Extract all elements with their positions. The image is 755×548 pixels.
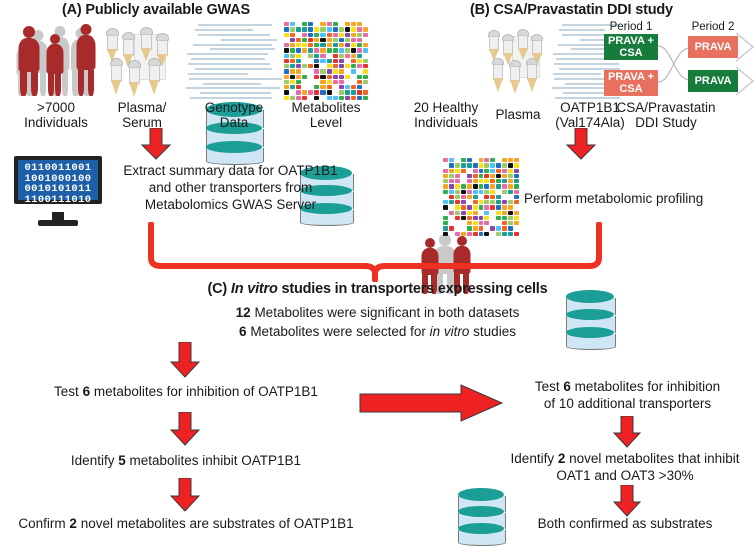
- panel-b-item-3-line2: DDI Study: [596, 115, 736, 130]
- panel-c-stat-line-1: 6 Metabolites were selected for in vitro…: [0, 322, 755, 341]
- stat-1-number: 6: [239, 324, 247, 339]
- right-step-1-post: novel metabolites that inhibit: [565, 451, 739, 466]
- extract-caption-line-1: and other transporters from: [108, 179, 353, 196]
- panel-a-item-2-line2: Data: [184, 115, 284, 130]
- left-step-2-pre: Confirm: [18, 516, 69, 531]
- panel-b-item-0-label: 20 Healthy Individuals: [404, 100, 488, 130]
- panel-a-item-2-label: Genotype Data: [184, 100, 284, 130]
- left-step-0-num: 6: [83, 384, 91, 399]
- crossover-box-p1-top: PRAVA + CSA: [604, 34, 658, 60]
- panel-a-item-2-line1: Genotype: [184, 100, 284, 115]
- panel-c-title-italic: In vitro: [231, 281, 278, 297]
- left-step-0: Test 6 metabolites for inhibition of OAT…: [0, 384, 372, 399]
- left-step-1-post: metabolites inhibit OATP1B1: [126, 453, 301, 468]
- panel-b-item-3-line1: CSA/Pravastatin: [596, 100, 736, 115]
- panel-a-item-0-line2: Individuals: [6, 115, 106, 130]
- panel-b-item-1-line1: Plasma: [484, 107, 552, 122]
- right-step-0-line1: Test 6 metabolites for inhibition: [500, 378, 755, 395]
- left-step-2: Confirm 2 novel metabolites are substrat…: [0, 516, 372, 531]
- sample-tubes-icon-b: [486, 26, 550, 96]
- panel-a-item-3-label: Metabolites Level: [278, 100, 374, 130]
- panel-a-item-3-line2: Level: [278, 115, 374, 130]
- stat-1-italic: in vitro: [430, 324, 470, 339]
- stat-1-text: Metabolites were selected for: [247, 324, 430, 339]
- panel-c-stat-line-0: 12 Metabolites were significant in both …: [0, 303, 755, 322]
- microarray-backdrop-a: [284, 22, 368, 100]
- extract-caption-line-0: Extract summary data for OATP1B1: [108, 162, 353, 179]
- arrow-down-a: [141, 128, 171, 160]
- right-step-1-line2: OAT1 and OAT3 >30%: [495, 467, 755, 484]
- panel-b-item-1-label: Plasma: [484, 107, 552, 122]
- panel-c-title: (C) In vitro studies in transporters exp…: [0, 281, 755, 297]
- people-crowd-icon: [14, 24, 102, 96]
- panel-a-item-3-line1: Metabolites: [278, 100, 374, 115]
- chevron-arrow-bottom: [736, 66, 755, 96]
- left-step-0-pre: Test: [54, 384, 83, 399]
- arrow-down-b: [566, 128, 596, 160]
- right-step-0-pre: Test: [535, 379, 564, 394]
- panel-a-item-0-label: >7000 Individuals: [6, 100, 106, 130]
- computer-monitor-icon: 0110011001 1001000100 0010101011 1100111…: [14, 156, 110, 228]
- left-step-2-post: novel metabolites are substrates of OATP…: [77, 516, 354, 531]
- right-step-0-num: 6: [563, 379, 571, 394]
- panel-a-item-1-label: Plasma/ Serum: [98, 100, 186, 130]
- panel-b-item-3-label: CSA/Pravastatin DDI Study: [596, 100, 736, 130]
- panel-c-title-prefix: (C): [208, 281, 231, 297]
- left-step-1-pre: Identify: [71, 453, 118, 468]
- panel-a-item-1-line1: Plasma/: [98, 100, 186, 115]
- sample-tubes-icon: [104, 24, 180, 98]
- crossover-box-p2-bottom: PRAVA: [688, 70, 738, 92]
- binary-row-0: 0110011001: [18, 163, 98, 174]
- monitor-screen: 0110011001 1001000100 0010101011 1100111…: [14, 156, 102, 204]
- panel-b-item-0-line2: Individuals: [404, 115, 488, 130]
- merge-connector: [120, 222, 640, 282]
- right-step-0: Test 6 metabolites for inhibition of 10 …: [500, 378, 755, 412]
- panel-a-item-0-line1: >7000: [6, 100, 106, 115]
- crossover-box-p1-bottom: PRAVA + CSA: [604, 70, 658, 96]
- chevron-arrow-top: [736, 32, 755, 62]
- crossover-design-icon: Period 1 Period 2 PRAVA + CSA PRAVA + CS…: [600, 20, 755, 98]
- right-step-1: Identify 2 novel metabolites that inhibi…: [495, 450, 755, 484]
- stat-0-text: Metabolites were significant in both dat…: [251, 305, 520, 320]
- arrow-right-to-additional-transporters: [358, 383, 504, 423]
- metabolomic-profiling-caption: Perform metabolomic profiling: [524, 190, 744, 207]
- stat-0-number: 12: [236, 305, 251, 320]
- left-step-2-num: 2: [69, 516, 77, 531]
- panel-b-item-0-line1: 20 Healthy: [404, 100, 488, 115]
- binary-row-2: 0010101011: [18, 184, 98, 195]
- arrow-down-left-2: [170, 478, 200, 512]
- arrow-down-c: [170, 342, 200, 378]
- left-step-1-num: 5: [118, 453, 126, 468]
- extract-caption-line-2: Metabolomics GWAS Server: [108, 196, 353, 213]
- binary-row-3: 1100111010: [18, 195, 98, 206]
- right-step-1-pre: Identify: [511, 451, 558, 466]
- sequence-backdrop-a: [186, 22, 282, 100]
- right-step-0-post: metabolites for inhibition: [571, 379, 720, 394]
- stat-1-tail: studies: [469, 324, 516, 339]
- right-step-1-line1: Identify 2 novel metabolites that inhibi…: [495, 450, 755, 467]
- panel-a-title: (A) Publicly available GWAS: [62, 2, 250, 18]
- left-step-0-post: metabolites for inhibition of OATP1B1: [90, 384, 318, 399]
- panel-c-title-suffix: studies in transporters expressing cells: [278, 281, 548, 297]
- extract-summary-caption: Extract summary data for OATP1B1 and oth…: [108, 162, 353, 213]
- panel-c-stats: 12 Metabolites were significant in both …: [0, 303, 755, 341]
- arrow-down-right-2: [613, 485, 641, 517]
- crossover-box-p2-top: PRAVA: [688, 36, 738, 58]
- arrow-down-left-1: [170, 412, 200, 446]
- right-step-0-line2: of 10 additional transporters: [500, 395, 755, 412]
- left-step-1: Identify 5 metabolites inhibit OATP1B1: [0, 453, 372, 468]
- arrow-down-right-1: [613, 416, 641, 448]
- right-step-2: Both confirmed as substrates: [495, 516, 755, 531]
- panel-b-title: (B) CSA/Pravastatin DDI study: [470, 2, 673, 18]
